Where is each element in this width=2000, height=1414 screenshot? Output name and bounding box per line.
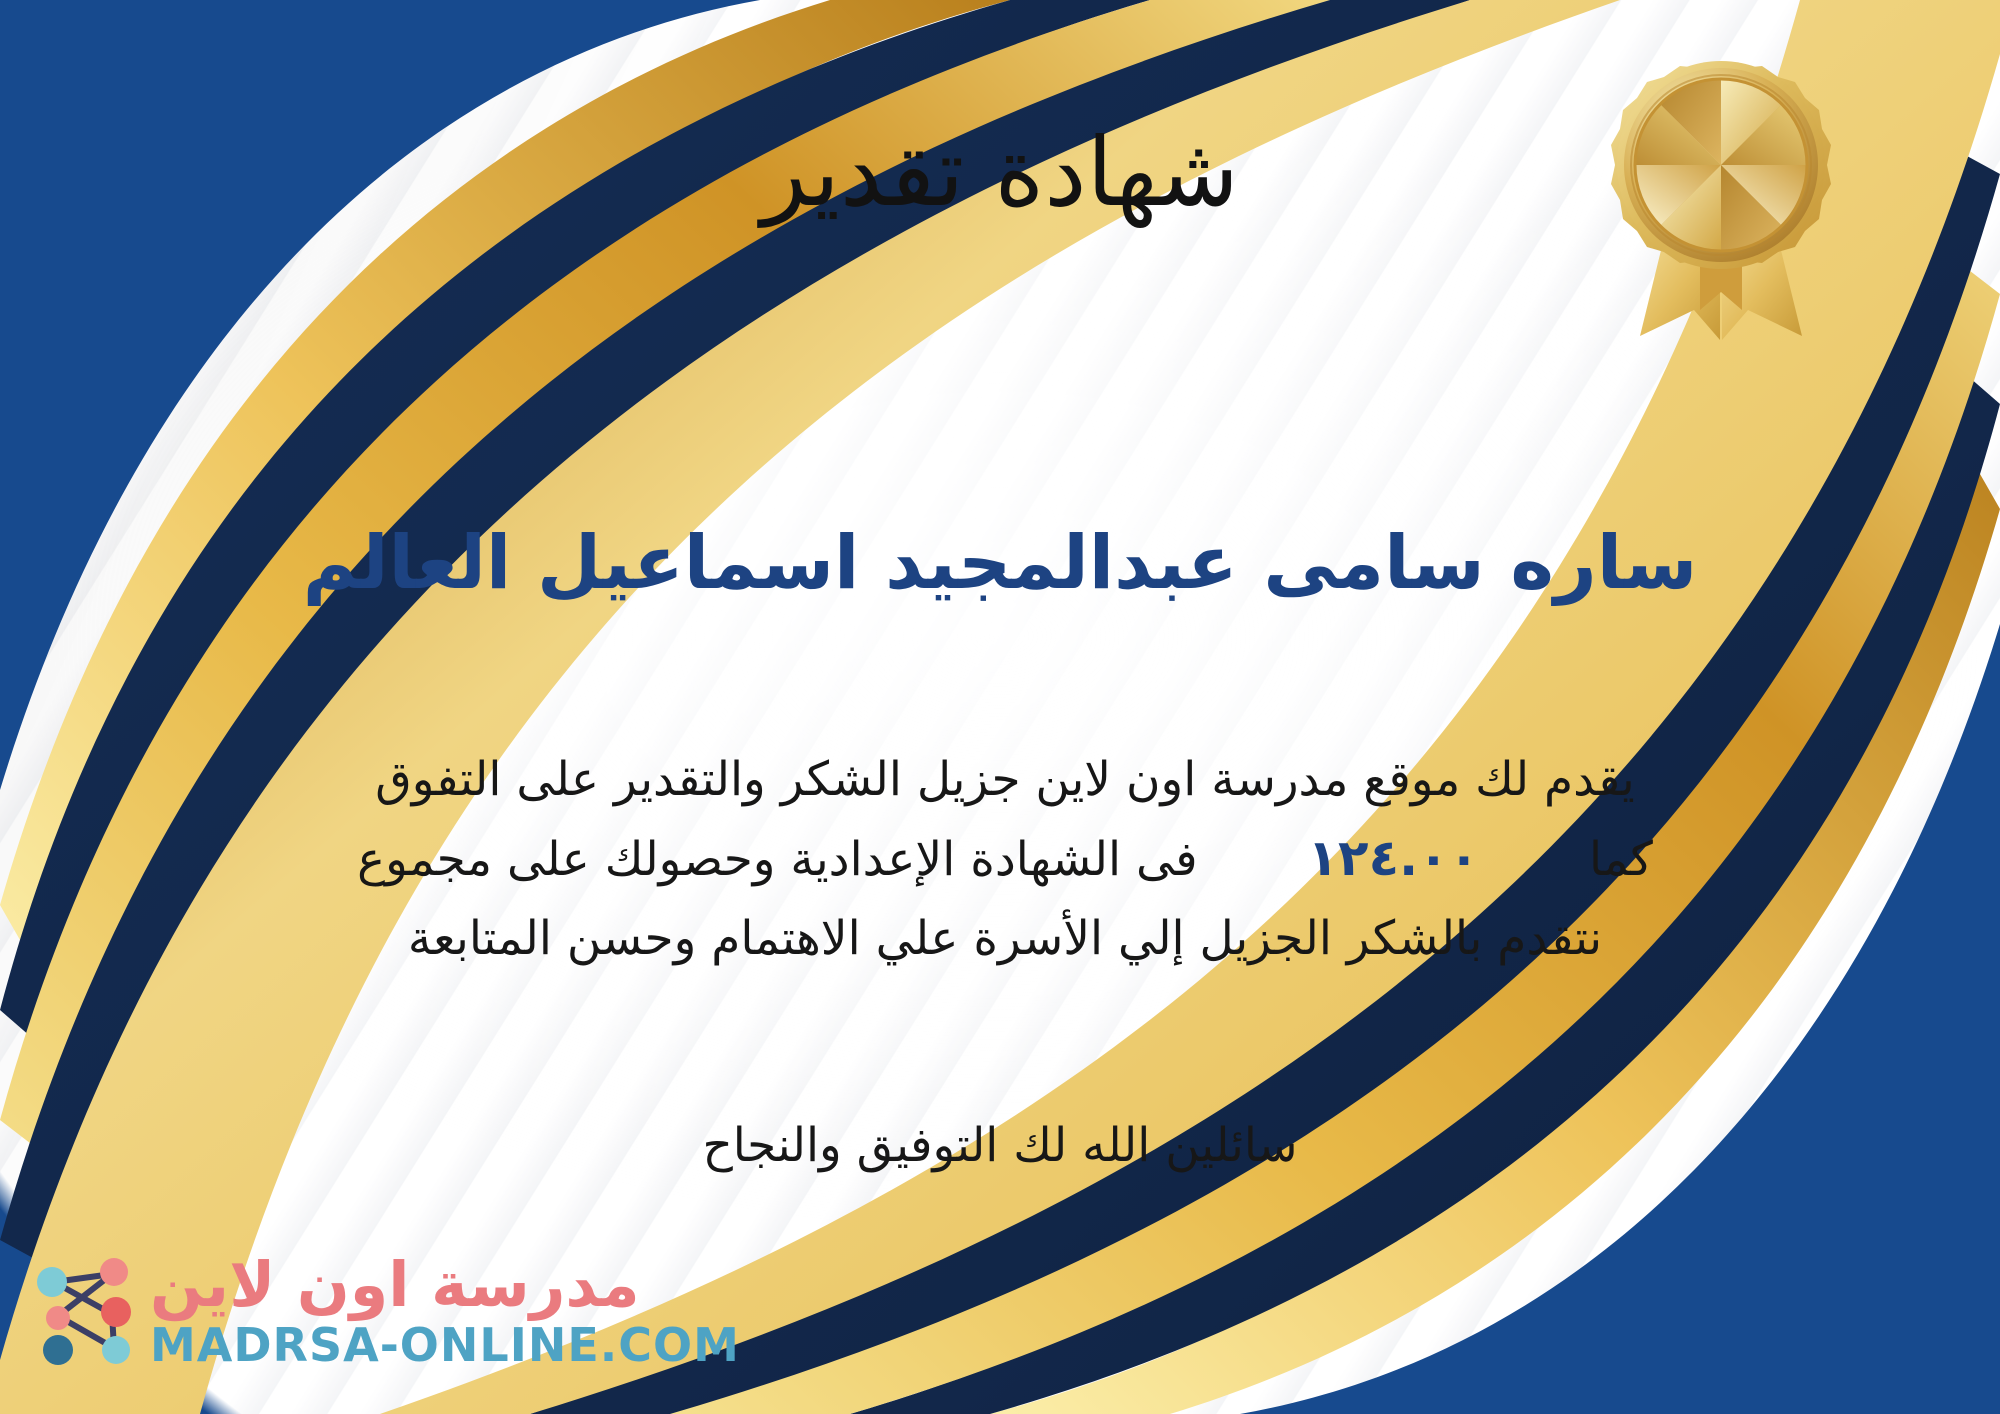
body-line-2: كما ١٢٤.٠٠ فى الشهادة الإعدادية وحصولك ع… bbox=[90, 819, 1920, 899]
body-line-2-prefix: فى الشهادة الإعدادية وحصولك على مجموع bbox=[357, 832, 1198, 887]
brand-website: MADRSA-ONLINE.COM bbox=[150, 1322, 740, 1368]
student-name: ساره سامى عبدالمجيد اسماعيل العالم bbox=[0, 520, 2000, 606]
page-title: شهادة تقدير bbox=[0, 118, 2000, 228]
brand-logo[interactable]: مدرسة اون لاين MADRSA-ONLINE.COM bbox=[28, 1236, 588, 1386]
body-line-3: نتقدم بالشكر الجزيل إلي الأسرة علي الاهت… bbox=[90, 899, 1920, 978]
certificate-body: يقدم لك موقع مدرسة اون لاين جزيل الشكر و… bbox=[90, 740, 1920, 978]
network-nodes-icon bbox=[28, 1252, 140, 1370]
brand-text: مدرسة اون لاين MADRSA-ONLINE.COM bbox=[150, 1254, 740, 1368]
grade-value: ١٢٤.٠٠ bbox=[1282, 829, 1506, 887]
certificate-content: شهادة تقدير ساره سامى عبدالمجيد اسماعيل … bbox=[0, 0, 2000, 1414]
brand-arabic-name: مدرسة اون لاين bbox=[150, 1254, 640, 1316]
body-line-2-suffix: كما bbox=[1589, 832, 1653, 887]
body-line-1: يقدم لك موقع مدرسة اون لاين جزيل الشكر و… bbox=[90, 740, 1920, 819]
certificate-canvas: شهادة تقدير ساره سامى عبدالمجيد اسماعيل … bbox=[0, 0, 2000, 1414]
closing-wish: سائلين الله لك التوفيق والنجاح bbox=[0, 1118, 2000, 1173]
